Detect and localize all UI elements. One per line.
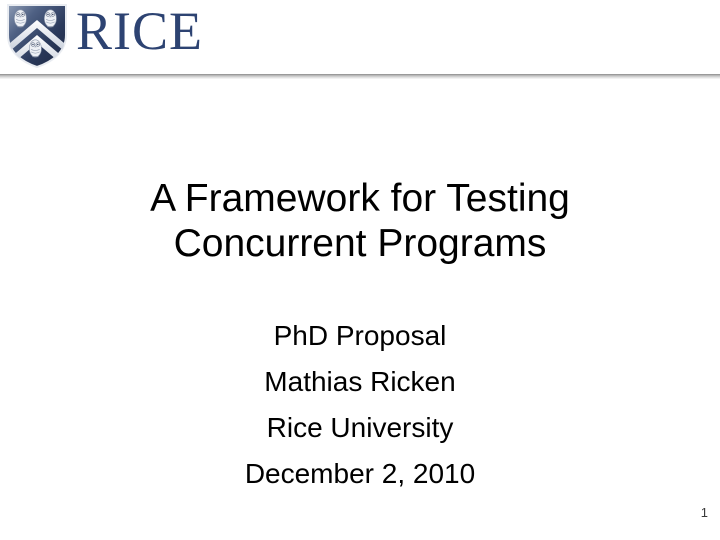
- slide-header: RICE: [0, 0, 720, 76]
- title-line-1: A Framework for Testing: [60, 176, 660, 221]
- subtitle-line-proposal: PhD Proposal: [60, 313, 660, 359]
- rice-wordmark: RICE: [76, 4, 203, 58]
- subtitle-block: PhD Proposal Mathias Ricken Rice Univers…: [60, 313, 660, 497]
- rice-shield-icon: [4, 2, 70, 70]
- slide-number: 1: [701, 505, 708, 520]
- header-divider: [0, 74, 720, 79]
- subtitle-line-institution: Rice University: [60, 405, 660, 451]
- page-title: A Framework for Testing Concurrent Progr…: [60, 176, 660, 266]
- subtitle-line-date: December 2, 2010: [60, 451, 660, 497]
- title-line-2: Concurrent Programs: [60, 221, 660, 266]
- presentation-slide: RICE A Framework for Testing Concurrent …: [0, 0, 720, 540]
- subtitle-line-author: Mathias Ricken: [60, 359, 660, 405]
